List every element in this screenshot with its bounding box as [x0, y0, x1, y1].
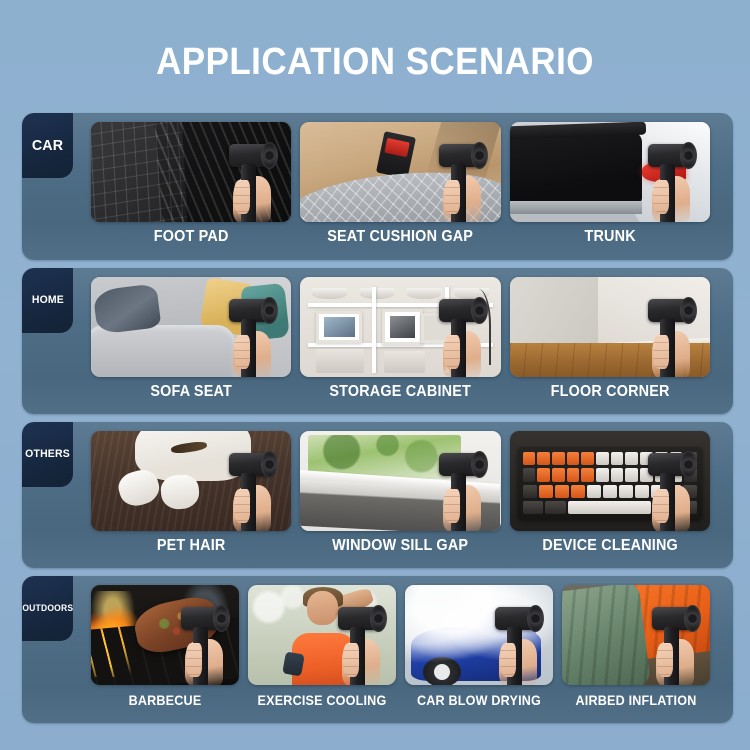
category-tab-car[interactable]: CAR — [22, 113, 73, 178]
scenario-caption: SEAT CUSHION GAP — [310, 225, 490, 251]
bbq-grill-photo — [91, 585, 239, 685]
scenario-card[interactable] — [300, 431, 500, 531]
car-seat-cushion-gap-photo — [300, 122, 500, 222]
scenario-card[interactable] — [91, 585, 239, 685]
scenario-caption: FOOT PAD — [101, 225, 281, 251]
car-wash-photo — [405, 585, 553, 685]
scenario-card[interactable] — [510, 431, 710, 531]
scenario-card[interactable] — [91, 277, 291, 377]
scenario-caption-list: SOFA SEAT STORAGE CABINET FLOOR CORNER — [91, 380, 710, 406]
scenario-card[interactable] — [405, 585, 553, 685]
category-tab-home[interactable]: HOME — [22, 268, 73, 333]
scenario-card[interactable] — [91, 122, 291, 222]
scenario-caption: SOFA SEAT — [101, 380, 281, 406]
scenario-card[interactable] — [300, 122, 500, 222]
scenario-caption: WINDOW SILL GAP — [310, 534, 490, 560]
scenario-card-list — [91, 585, 710, 685]
scenario-card[interactable] — [562, 585, 710, 685]
category-tab-label: OUTDOORS — [22, 604, 73, 613]
scenario-card-list — [91, 122, 710, 222]
gray-sofa-photo — [91, 277, 291, 377]
scenario-caption: STORAGE CABINET — [310, 380, 490, 406]
wood-floor-corner-photo — [510, 277, 710, 377]
category-panel-home: HOME — [22, 268, 733, 414]
scenario-caption: CAR BLOW DRYING — [412, 688, 545, 714]
application-scenario-infographic: APPLICATION SCENARIO CAR — [0, 0, 750, 750]
scenario-caption: TRUNK — [520, 225, 700, 251]
scenario-caption-list: BARBECUE EXERCISE COOLING CAR BLOW DRYIN… — [91, 688, 710, 714]
category-tab-label: CAR — [32, 138, 63, 153]
dog-on-couch-photo — [91, 431, 291, 531]
scenario-caption: EXERCISE COOLING — [255, 688, 388, 714]
scenario-card[interactable] — [510, 122, 710, 222]
scenario-card[interactable] — [510, 277, 710, 377]
category-tab-others[interactable]: OTHERS — [22, 422, 73, 487]
scenario-caption-list: PET HAIR WINDOW SILL GAP DEVICE CLEANING — [91, 534, 710, 560]
car-trunk-photo — [510, 122, 710, 222]
scenario-caption: AIRBED INFLATION — [569, 688, 702, 714]
scenario-card-list — [91, 431, 710, 531]
scenario-card[interactable] — [248, 585, 396, 685]
category-tab-label: OTHERS — [25, 449, 70, 460]
category-panel-car: CAR — [22, 113, 733, 260]
woman-exercising-photo — [248, 585, 396, 685]
scenario-caption: PET HAIR — [101, 534, 281, 560]
car-floor-mat-photo — [91, 122, 291, 222]
scenario-caption: DEVICE CLEANING — [520, 534, 700, 560]
page-title: APPLICATION SCENARIO — [30, 40, 720, 84]
scenario-card[interactable] — [91, 431, 291, 531]
scenario-caption-list: FOOT PAD SEAT CUSHION GAP TRUNK — [91, 225, 710, 251]
category-tab-label: HOME — [31, 295, 63, 306]
category-panel-others: OTHERS — [22, 422, 733, 568]
category-tab-outdoors[interactable]: OUTDOORS — [22, 576, 73, 641]
category-panel-outdoors: OUTDOORS — [22, 576, 733, 723]
inflatable-airbed-photo — [562, 585, 710, 685]
scenario-card[interactable] — [300, 277, 500, 377]
window-sill-photo — [300, 431, 500, 531]
scenario-caption: FLOOR CORNER — [520, 380, 700, 406]
scenario-card-list — [91, 277, 710, 377]
scenario-caption: BARBECUE — [98, 688, 231, 714]
storage-shelving-photo — [300, 277, 500, 377]
mechanical-keyboard-photo — [510, 431, 710, 531]
